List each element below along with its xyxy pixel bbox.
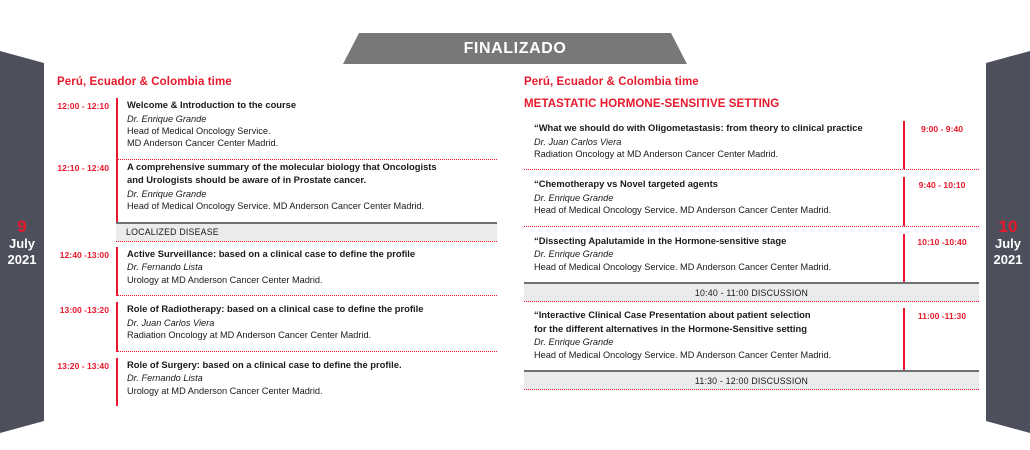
session-title: Welcome & Introduction to the course	[127, 99, 497, 112]
session-title: Active Surveillance: based on a clinical…	[127, 248, 497, 261]
session-row[interactable]: 12:00 - 12:10 Welcome & Introduction to …	[57, 98, 497, 159]
session-title: Role of Radiotherapy: based on a clinica…	[127, 303, 497, 316]
session-affiliation: Head of Medical Oncology Service. MD And…	[127, 200, 497, 212]
session-speaker: Dr. Enrique Grande	[534, 192, 895, 204]
session-row[interactable]: “Interactive Clinical Case Presentation …	[524, 302, 979, 370]
session-title: “What we should do with Oligometastasis:…	[534, 122, 895, 135]
session-speaker: Dr. Enrique Grande	[534, 336, 895, 348]
agenda-column-day-2: Perú, Ecuador & Colombia time METASTATIC…	[524, 76, 979, 390]
session-row[interactable]: 12:40 -13:00 Active Surveillance: based …	[57, 242, 497, 295]
session-speaker: Dr. Juan Carlos Viera	[127, 317, 497, 329]
session-speaker: Dr. Enrique Grande	[127, 188, 497, 200]
session-affiliation: Urology at MD Anderson Cancer Center Mad…	[127, 385, 497, 397]
session-row[interactable]: “Chemotherapy vs Novel targeted agents D…	[524, 170, 979, 225]
session-affiliation: Head of Medical Oncology Service. MD And…	[534, 204, 895, 216]
session-row[interactable]: 12:10 - 12:40 A comprehensive summary of…	[57, 160, 497, 222]
session-body: “Dissecting Apalutamide in the Hormone-s…	[524, 234, 903, 282]
session-affiliation: Radiation Oncology at MD Anderson Cancer…	[534, 148, 895, 160]
session-time: 10:10 -10:40	[905, 234, 979, 282]
agenda-page: 9 July 2021 10 July 2021 FINALIZADO Perú…	[0, 0, 1030, 450]
session-row[interactable]: 13:20 - 13:40 Role of Surgery: based on …	[57, 352, 497, 406]
date-tab-july-10[interactable]: 10 July 2021	[986, 51, 1030, 433]
timezone-label: Perú, Ecuador & Colombia time	[524, 76, 979, 88]
discussion-band-label: 11:30 - 12:00 DISCUSSION	[695, 376, 808, 386]
session-title: A comprehensive summary of the molecular…	[127, 161, 497, 174]
session-title: “Interactive Clinical Case Presentation …	[534, 309, 895, 322]
session-affiliation: Head of Medical Oncology Service. MD And…	[534, 349, 895, 361]
status-banner: FINALIZADO	[343, 33, 687, 64]
session-time: 12:00 - 12:10	[57, 98, 116, 159]
discussion-band: 11:30 - 12:00 DISCUSSION	[524, 370, 979, 390]
session-title: “Dissecting Apalutamide in the Hormone-s…	[534, 235, 895, 248]
session-speaker: Dr. Enrique Grande	[534, 248, 895, 260]
session-speaker: Dr. Enrique Grande	[127, 113, 497, 125]
session-affiliation: Urology at MD Anderson Cancer Center Mad…	[127, 274, 497, 286]
session-time: 12:10 - 12:40	[57, 160, 116, 222]
status-banner-label: FINALIZADO	[464, 40, 567, 58]
discussion-band-label: 10:40 - 11:00 DISCUSSION	[695, 288, 808, 298]
session-speaker: Dr. Fernando Lista	[127, 372, 497, 384]
session-title: for the different alternatives in the Ho…	[534, 323, 895, 336]
session-row[interactable]: “Dissecting Apalutamide in the Hormone-s…	[524, 227, 979, 282]
session-affiliation: MD Anderson Cancer Center Madrid.	[127, 137, 497, 149]
session-title: “Chemotherapy vs Novel targeted agents	[534, 178, 895, 191]
section-heading: METASTATIC HORMONE-SENSITIVE SETTING	[524, 98, 979, 110]
session-body: “What we should do with Oligometastasis:…	[524, 121, 903, 169]
date-tab-day: 10	[999, 217, 1018, 236]
session-speaker: Dr. Fernando Lista	[127, 261, 497, 273]
session-time: 11:00 -11:30	[905, 308, 979, 370]
session-time: 9:00 - 9:40	[905, 121, 979, 169]
session-title: and Urologists should be aware of in Pro…	[127, 174, 497, 187]
discussion-band: 10:40 - 11:00 DISCUSSION	[524, 282, 979, 302]
session-time: 13:00 -13:20	[57, 302, 116, 350]
agenda-column-day-1: Perú, Ecuador & Colombia time 12:00 - 12…	[57, 76, 497, 406]
session-affiliation: Radiation Oncology at MD Anderson Cancer…	[127, 329, 497, 341]
session-time: 12:40 -13:00	[57, 247, 116, 295]
date-tab-day: 9	[17, 217, 26, 236]
session-affiliation: Head of Medical Oncology Service.	[127, 125, 497, 137]
session-body: Welcome & Introduction to the course Dr.…	[118, 98, 497, 159]
session-body: “Chemotherapy vs Novel targeted agents D…	[524, 177, 903, 225]
session-body: Role of Surgery: based on a clinical cas…	[118, 358, 497, 406]
timezone-label: Perú, Ecuador & Colombia time	[57, 76, 497, 88]
session-body: A comprehensive summary of the molecular…	[118, 160, 497, 222]
session-title: Role of Surgery: based on a clinical cas…	[127, 359, 497, 372]
date-tab-month: July	[995, 236, 1021, 252]
session-body: Role of Radiotherapy: based on a clinica…	[118, 302, 497, 350]
section-band-localized-disease: LOCALIZED DISEASE	[116, 222, 497, 242]
session-row[interactable]: 13:00 -13:20 Role of Radiotherapy: based…	[57, 296, 497, 350]
session-time: 9:40 - 10:10	[905, 177, 979, 225]
session-body: Active Surveillance: based on a clinical…	[118, 247, 497, 295]
date-tab-month: July	[9, 236, 35, 252]
session-row[interactable]: “What we should do with Oligometastasis:…	[524, 121, 979, 169]
session-speaker: Dr. Juan Carlos Viera	[534, 136, 895, 148]
session-body: “Interactive Clinical Case Presentation …	[524, 308, 903, 370]
session-time: 13:20 - 13:40	[57, 358, 116, 406]
date-tab-year: 2021	[994, 252, 1023, 268]
session-affiliation: Head of Medical Oncology Service. MD And…	[534, 261, 895, 273]
date-tab-july-9[interactable]: 9 July 2021	[0, 51, 44, 433]
section-band-label: LOCALIZED DISEASE	[126, 227, 219, 237]
date-tab-year: 2021	[8, 252, 37, 268]
